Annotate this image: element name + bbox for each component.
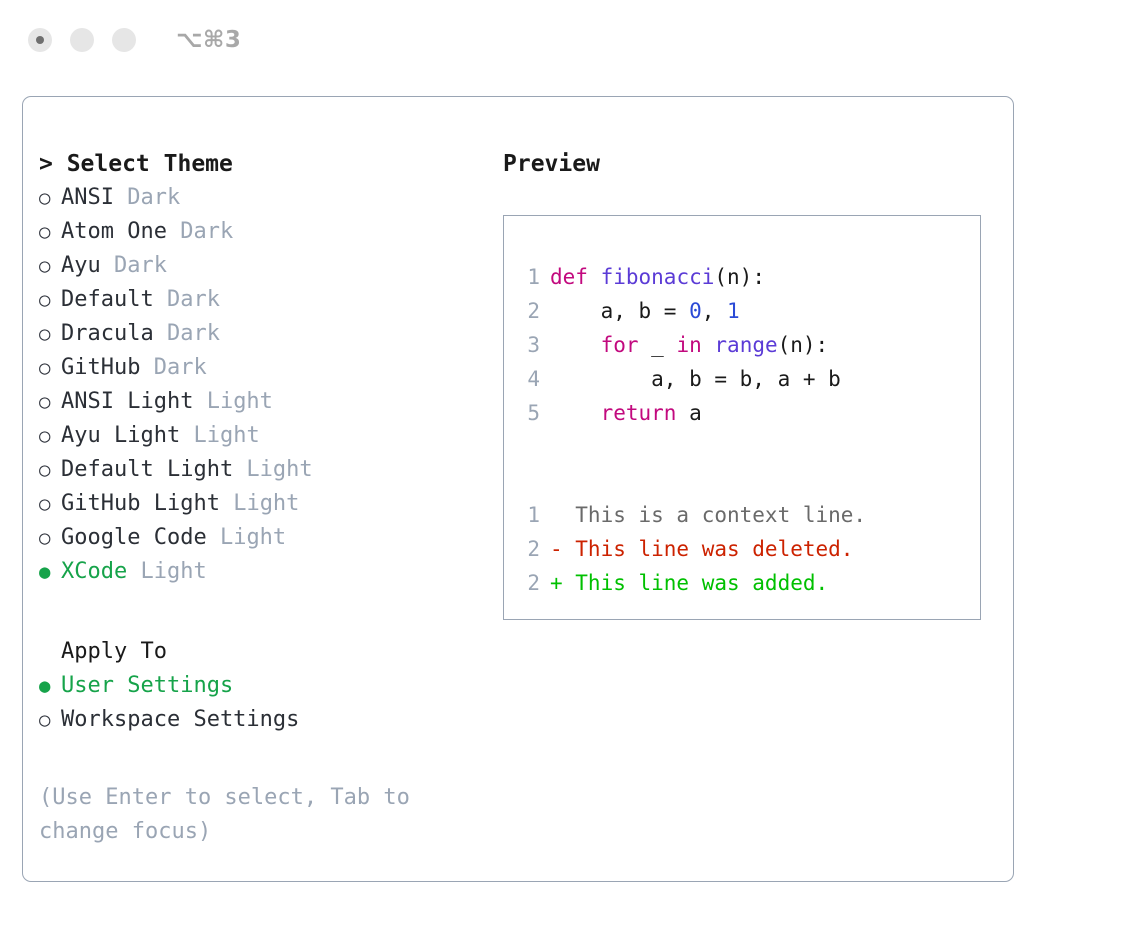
- theme-option-8[interactable]: ○Default Light Light: [39, 453, 503, 487]
- theme-option-variant-tag: Light: [127, 555, 206, 589]
- code-token-plain: [550, 333, 601, 357]
- code-token-kw: for: [601, 333, 639, 357]
- radio-unselected-icon: ○: [39, 181, 61, 215]
- theme-option-list[interactable]: ○ANSI Dark○Atom One Dark○Ayu Dark○Defaul…: [39, 181, 503, 589]
- code-preview-box: 1def fibonacci(n):2 a, b = 0, 13 for _ i…: [503, 215, 981, 620]
- theme-option-label: GitHub: [61, 351, 140, 385]
- code-token-plain: _: [639, 333, 677, 357]
- code-line-number: 4: [504, 362, 550, 396]
- radio-unselected-icon: ○: [39, 419, 61, 453]
- radio-unselected-icon: ○: [39, 351, 61, 385]
- theme-option-11[interactable]: ●XCode Light: [39, 555, 503, 589]
- select-theme-heading: > Select Theme: [39, 147, 503, 181]
- theme-option-variant-tag: Dark: [114, 181, 180, 215]
- diff-line-add: 2+ This line was added.: [504, 566, 980, 600]
- theme-option-0[interactable]: ○ANSI Dark: [39, 181, 503, 215]
- code-line: 2 a, b = 0, 1: [504, 294, 980, 328]
- theme-option-label: Default: [61, 283, 154, 317]
- theme-option-label: Ayu Light: [61, 419, 180, 453]
- theme-option-variant-tag: Dark: [140, 351, 206, 385]
- theme-option-1[interactable]: ○Atom One Dark: [39, 215, 503, 249]
- code-line-content: def fibonacci(n):: [550, 260, 765, 294]
- code-spacer-2: [504, 464, 980, 498]
- code-line-content: return a: [550, 396, 702, 430]
- code-token-plain: [550, 401, 601, 425]
- window-dot-second[interactable]: [70, 28, 94, 52]
- theme-option-variant-tag: Light: [233, 453, 312, 487]
- theme-option-2[interactable]: ○Ayu Dark: [39, 249, 503, 283]
- diff-line-content: + This line was added.: [550, 566, 828, 600]
- code-token-num: 0: [689, 299, 702, 323]
- code-line-number: 3: [504, 328, 550, 362]
- title-bar: ⌥⌘3: [0, 0, 1140, 80]
- code-line-content: a, b = b, a + b: [550, 362, 841, 396]
- main-panel: > Select Theme ○ANSI Dark○Atom One Dark○…: [22, 96, 1014, 882]
- theme-picker-window: ⌥⌘3 > Select Theme ○ANSI Dark○Atom One D…: [0, 0, 1140, 934]
- diff-line-del: 2- This line was deleted.: [504, 532, 980, 566]
- code-token-kw: def: [550, 265, 588, 289]
- code-line: 3 for _ in range(n):: [504, 328, 980, 362]
- keyboard-shortcut-label: ⌥⌘3: [176, 27, 241, 53]
- theme-option-5[interactable]: ○GitHub Dark: [39, 351, 503, 385]
- apply-to-option-list[interactable]: ●User Settings○Workspace Settings: [39, 669, 503, 737]
- diff-line-ctx: 1 This is a context line.: [504, 498, 980, 532]
- theme-option-variant-tag: Light: [193, 385, 272, 419]
- code-token-num: 1: [727, 299, 740, 323]
- code-line: 4 a, b = b, a + b: [504, 362, 980, 396]
- radio-unselected-icon: ○: [39, 283, 61, 317]
- theme-option-variant-tag: Light: [180, 419, 259, 453]
- code-line: 5 return a: [504, 396, 980, 430]
- theme-option-label: ANSI: [61, 181, 114, 215]
- preview-heading: Preview: [503, 147, 1013, 181]
- apply-to-option-label: User Settings: [61, 669, 233, 703]
- code-token-plain: a, b =: [550, 299, 689, 323]
- code-token-fn: fibonacci: [601, 265, 715, 289]
- theme-option-label: Ayu: [61, 249, 101, 283]
- code-line-content: for _ in range(n):: [550, 328, 828, 362]
- code-spacer: [504, 430, 980, 464]
- code-line-content: a, b = 0, 1: [550, 294, 740, 328]
- code-sample-block: 1def fibonacci(n):2 a, b = 0, 13 for _ i…: [504, 260, 980, 430]
- theme-option-variant-tag: Dark: [154, 317, 220, 351]
- theme-option-label: GitHub Light: [61, 487, 220, 521]
- diff-line-content: - This line was deleted.: [550, 532, 853, 566]
- diff-line-number: 2: [504, 532, 550, 566]
- code-line-number: 2: [504, 294, 550, 328]
- code-line: 1def fibonacci(n):: [504, 260, 980, 294]
- code-token-plain: ,: [702, 299, 727, 323]
- code-token-plain: (n):: [714, 265, 765, 289]
- theme-option-variant-tag: Light: [220, 487, 299, 521]
- theme-option-variant-tag: Light: [207, 521, 286, 555]
- apply-to-option-label: Workspace Settings: [61, 703, 299, 737]
- radio-unselected-icon: ○: [39, 385, 61, 419]
- radio-selected-icon: ●: [39, 669, 61, 703]
- theme-option-label: Atom One: [61, 215, 167, 249]
- window-dot-active[interactable]: [28, 28, 52, 52]
- theme-option-label: ANSI Light: [61, 385, 193, 419]
- apply-to-option-0[interactable]: ●User Settings: [39, 669, 503, 703]
- apply-to-option-1[interactable]: ○Workspace Settings: [39, 703, 503, 737]
- code-token-plain: [588, 265, 601, 289]
- keyboard-hint-text: (Use Enter to select, Tab to change focu…: [39, 781, 439, 849]
- theme-option-10[interactable]: ○Google Code Light: [39, 521, 503, 555]
- code-token-plain: a, b = b, a + b: [550, 367, 841, 391]
- theme-option-label: Default Light: [61, 453, 233, 487]
- theme-option-label: Dracula: [61, 317, 154, 351]
- diff-sample-block: 1 This is a context line.2- This line wa…: [504, 498, 980, 600]
- theme-option-4[interactable]: ○Dracula Dark: [39, 317, 503, 351]
- radio-unselected-icon: ○: [39, 521, 61, 555]
- code-token-fn: range: [714, 333, 777, 357]
- theme-option-label: Google Code: [61, 521, 207, 555]
- radio-unselected-icon: ○: [39, 317, 61, 351]
- theme-option-variant-tag: Dark: [167, 215, 233, 249]
- radio-unselected-icon: ○: [39, 249, 61, 283]
- window-dot-active-indicator: [36, 36, 44, 44]
- theme-option-6[interactable]: ○ANSI Light Light: [39, 385, 503, 419]
- radio-unselected-icon: ○: [39, 487, 61, 521]
- theme-option-7[interactable]: ○Ayu Light Light: [39, 419, 503, 453]
- theme-option-3[interactable]: ○Default Dark: [39, 283, 503, 317]
- diff-line-content: This is a context line.: [550, 498, 866, 532]
- radio-unselected-icon: ○: [39, 215, 61, 249]
- theme-option-variant-tag: Dark: [101, 249, 167, 283]
- code-token-plain: a: [676, 401, 701, 425]
- theme-option-variant-tag: Dark: [154, 283, 220, 317]
- code-token-kw: return: [601, 401, 677, 425]
- window-dot-third[interactable]: [112, 28, 136, 52]
- radio-unselected-icon: ○: [39, 703, 61, 737]
- code-token-kw: in: [676, 333, 701, 357]
- code-token-plain: [702, 333, 715, 357]
- code-token-plain: (n):: [778, 333, 829, 357]
- theme-option-label: XCode: [61, 555, 127, 589]
- theme-option-9[interactable]: ○GitHub Light Light: [39, 487, 503, 521]
- diff-line-number: 1: [504, 498, 550, 532]
- preview-column: Preview 1def fibonacci(n):2 a, b = 0, 13…: [503, 97, 1013, 881]
- code-line-number: 5: [504, 396, 550, 430]
- apply-to-heading: Apply To: [39, 635, 503, 669]
- window-controls: [28, 28, 136, 52]
- diff-line-number: 2: [504, 566, 550, 600]
- radio-unselected-icon: ○: [39, 453, 61, 487]
- theme-list-column: > Select Theme ○ANSI Dark○Atom One Dark○…: [23, 97, 503, 881]
- radio-selected-icon: ●: [39, 555, 61, 589]
- code-line-number: 1: [504, 260, 550, 294]
